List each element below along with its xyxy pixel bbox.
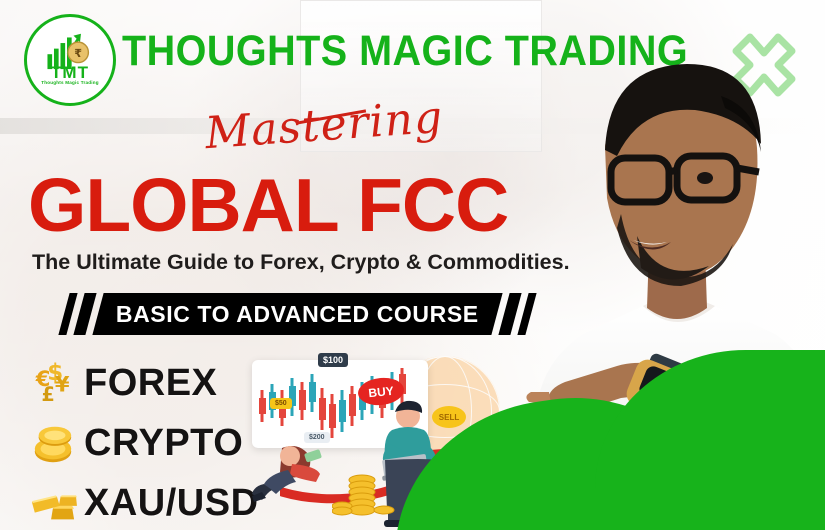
- brand-logo: ₹ TMT Thoughts Magic Trading: [24, 14, 116, 106]
- feature-label: CRYPTO: [84, 422, 243, 465]
- course-banner-bar: BASIC TO ADVANCED COURSE: [92, 293, 502, 335]
- svg-text:¥: ¥: [55, 371, 70, 396]
- feature-label: FOREX: [84, 362, 217, 405]
- feature-item-xauusd: XAU/USD: [22, 476, 259, 530]
- page-subtitle: The Ultimate Guide to Forex, Crypto & Co…: [32, 250, 570, 275]
- feature-list: € $ ¥ £ FOREX CRYPTO: [22, 356, 259, 530]
- gold-coins-icon: [22, 419, 84, 469]
- feature-label: XAU/USD: [84, 482, 259, 525]
- course-banner: BASIC TO ADVANCED COURSE: [64, 292, 531, 336]
- gold-bars-icon: [22, 479, 84, 529]
- price-tag-high: $100: [318, 353, 348, 367]
- feature-item-crypto: CRYPTO: [22, 416, 259, 471]
- logo-currency-symbol: ₹: [74, 47, 82, 60]
- currency-symbols-icon: € $ ¥ £: [22, 359, 84, 409]
- coin-stack-graphic: [332, 470, 398, 520]
- page-title: GLOBAL FCC: [28, 168, 508, 243]
- person-seated-graphic: [248, 430, 336, 502]
- feature-item-forex: € $ ¥ £ FOREX: [22, 356, 259, 411]
- course-banner-label: BASIC TO ADVANCED COURSE: [116, 301, 479, 328]
- promo-banner: ₹ TMT Thoughts Magic Trading THOUGHTS MA…: [0, 0, 825, 530]
- logo-tagline: Thoughts Magic Trading: [27, 80, 113, 85]
- svg-text:£: £: [42, 383, 55, 406]
- price-tag-low: $50: [270, 398, 292, 409]
